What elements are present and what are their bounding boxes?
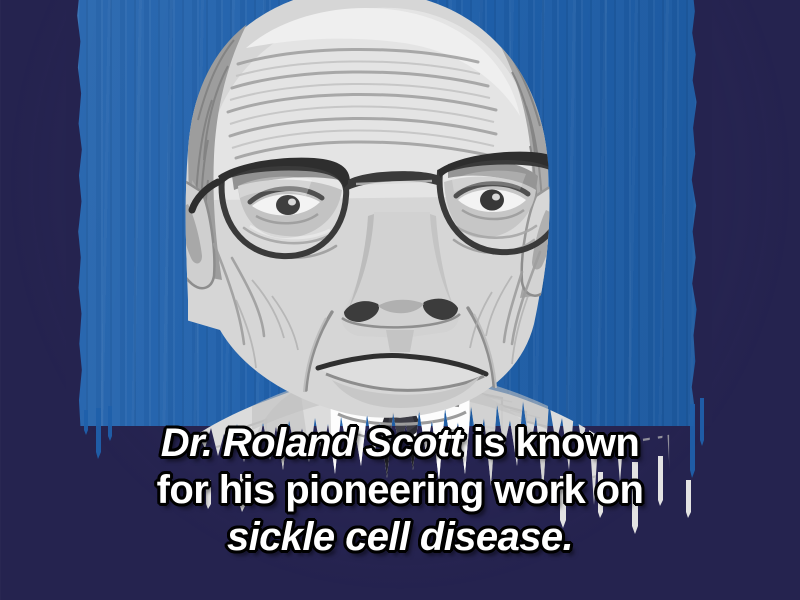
caption-line-1-rest: is known [462, 421, 639, 465]
poster-canvas: Dr. Roland Scott is known for his pionee… [0, 0, 800, 600]
caption-block: Dr. Roland Scott is known for his pionee… [0, 420, 800, 561]
caption-line-2: for his pioneering work on [0, 467, 800, 514]
caption-subject-name: Dr. Roland Scott [161, 421, 463, 465]
caption-line-3: sickle cell disease. [0, 514, 800, 561]
caption-line-1: Dr. Roland Scott is known [0, 420, 800, 467]
